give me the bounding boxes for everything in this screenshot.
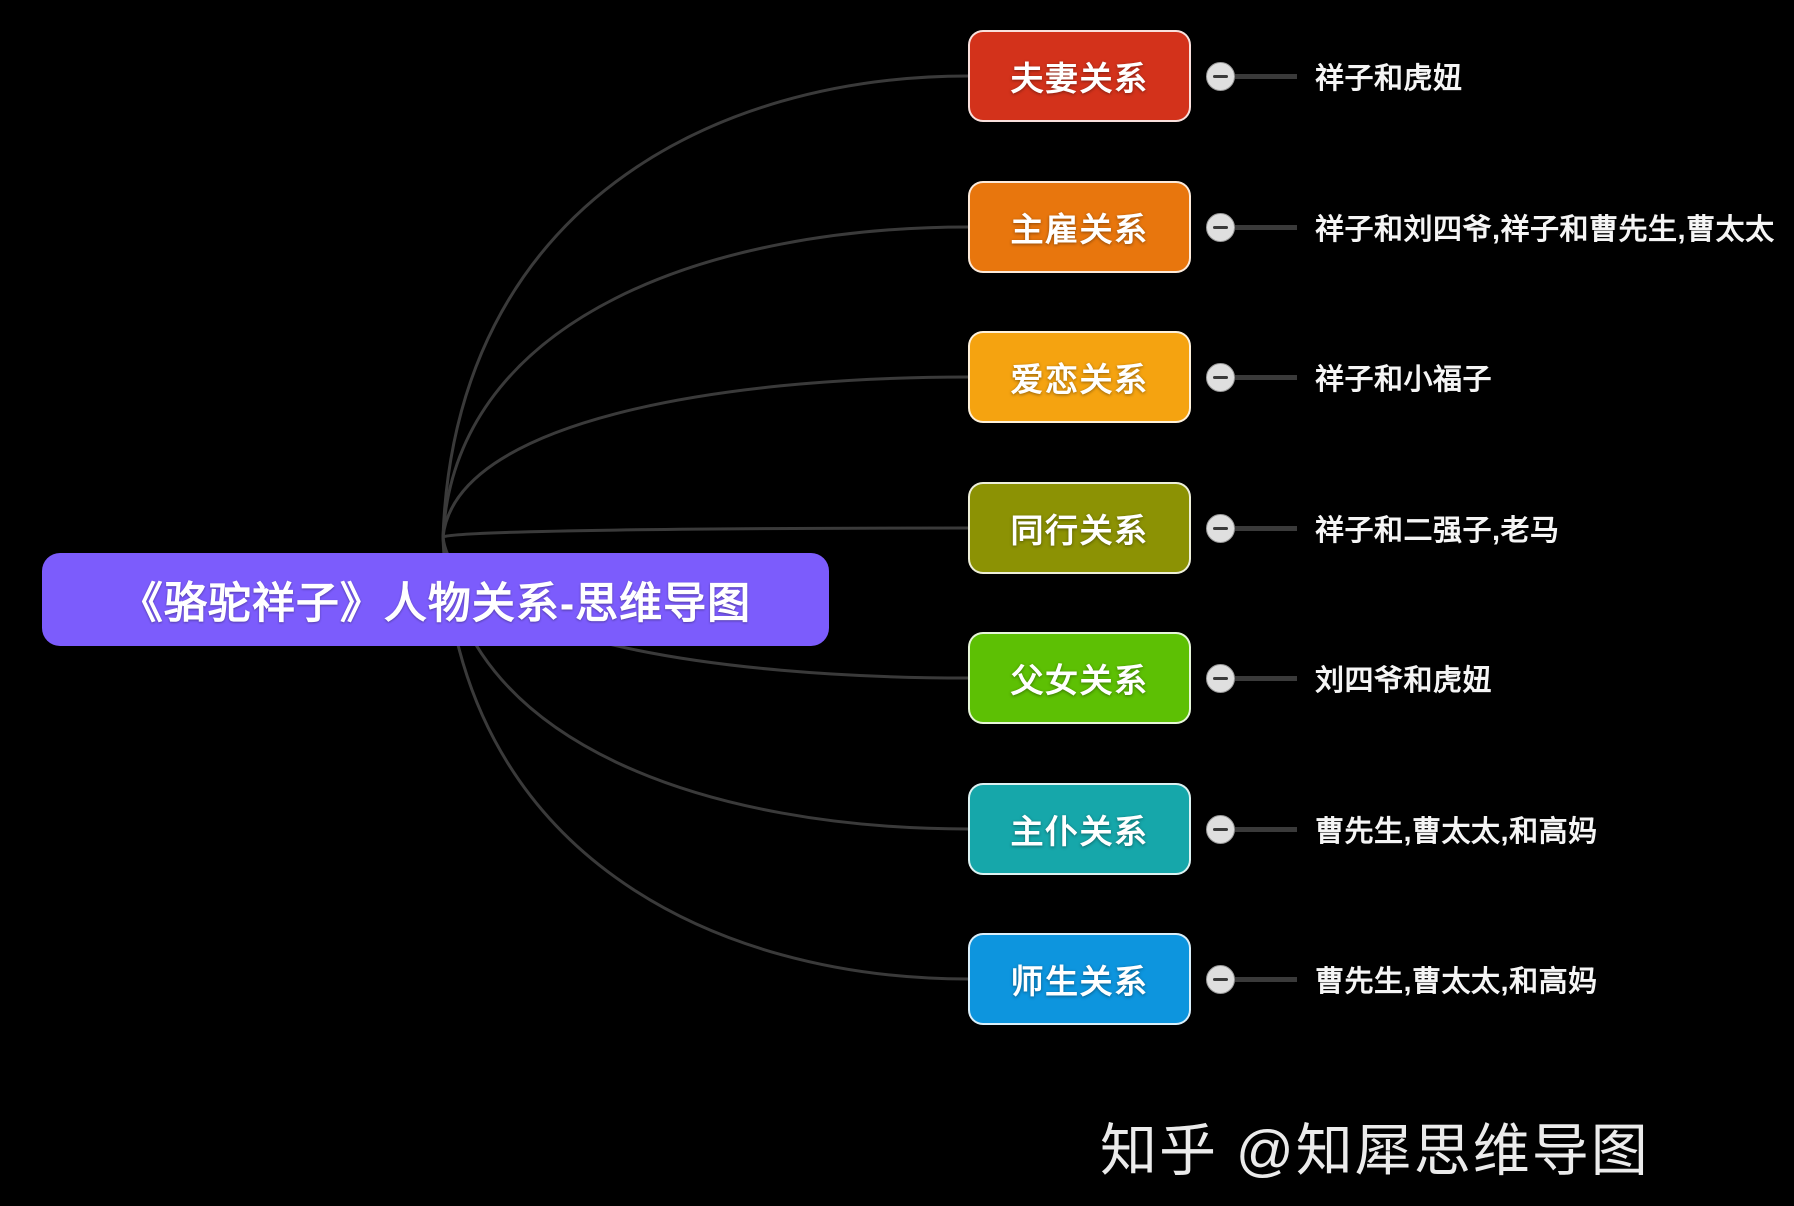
branch-row: 爱恋关系祥子和小福子 (968, 331, 1492, 423)
branch-row: 师生关系曹先生,曹太太,和高妈 (968, 933, 1598, 1025)
branch-row: 主仆关系曹先生,曹太太,和高妈 (968, 783, 1598, 875)
leaf-label[interactable]: 祥子和小福子 (1315, 356, 1492, 398)
branch-chip[interactable]: 父女关系 (968, 632, 1191, 724)
branch-row: 父女关系刘四爷和虎妞 (968, 632, 1492, 724)
branch-chip-label: 主仆关系 (1011, 805, 1149, 853)
branch-chip[interactable]: 夫妻关系 (968, 30, 1191, 122)
watermark: 知乎 @知犀思维导图 (1100, 1105, 1650, 1187)
branch-chip-label: 主雇关系 (1011, 203, 1149, 251)
branch-row: 夫妻关系祥子和虎妞 (968, 30, 1463, 122)
branch-row: 主雇关系祥子和刘四爷,祥子和曹先生,曹太太 (968, 181, 1775, 273)
leaf-label[interactable]: 祥子和刘四爷,祥子和曹先生,曹太太 (1315, 206, 1775, 248)
branch-chip[interactable]: 同行关系 (968, 482, 1191, 574)
root-node-label: 《骆驼祥子》人物关系-思维导图 (120, 569, 751, 631)
branch-chip-label: 师生关系 (1011, 955, 1149, 1003)
branch-chip[interactable]: 爱恋关系 (968, 331, 1191, 423)
edge-path (443, 377, 968, 537)
mindmap-canvas: 《骆驼祥子》人物关系-思维导图 夫妻关系祥子和虎妞主雇关系祥子和刘四爷,祥子和曹… (0, 0, 1794, 1206)
leaf-connector-line (1235, 375, 1297, 380)
edge-path (443, 227, 968, 537)
branch-chip[interactable]: 主仆关系 (968, 783, 1191, 875)
root-node[interactable]: 《骆驼祥子》人物关系-思维导图 (42, 553, 829, 646)
edge-path (443, 76, 968, 537)
minus-icon[interactable] (1206, 213, 1235, 242)
leaf-connector-line (1235, 827, 1297, 832)
leaf-connector-line (1235, 526, 1297, 531)
leaf-label[interactable]: 祥子和虎妞 (1315, 55, 1463, 97)
minus-icon[interactable] (1206, 965, 1235, 994)
branch-chip-label: 夫妻关系 (1011, 52, 1149, 100)
branch-chip-label: 同行关系 (1011, 504, 1149, 552)
leaf-label[interactable]: 祥子和二强子,老马 (1315, 507, 1560, 549)
branch-chip-label: 父女关系 (1011, 654, 1149, 702)
leaf-connector-line (1235, 74, 1297, 79)
leaf-connector-line (1235, 676, 1297, 681)
minus-icon[interactable] (1206, 363, 1235, 392)
minus-icon[interactable] (1206, 62, 1235, 91)
minus-icon[interactable] (1206, 815, 1235, 844)
minus-icon[interactable] (1206, 514, 1235, 543)
leaf-label[interactable]: 刘四爷和虎妞 (1315, 657, 1492, 699)
leaf-connector-line (1235, 225, 1297, 230)
branch-chip-label: 爱恋关系 (1011, 353, 1149, 401)
branch-chip[interactable]: 主雇关系 (968, 181, 1191, 273)
edge-path (443, 528, 968, 537)
leaf-label[interactable]: 曹先生,曹太太,和高妈 (1315, 958, 1598, 1000)
branch-chip[interactable]: 师生关系 (968, 933, 1191, 1025)
leaf-connector-line (1235, 977, 1297, 982)
minus-icon[interactable] (1206, 664, 1235, 693)
leaf-label[interactable]: 曹先生,曹太太,和高妈 (1315, 808, 1598, 850)
branch-row: 同行关系祥子和二强子,老马 (968, 482, 1560, 574)
